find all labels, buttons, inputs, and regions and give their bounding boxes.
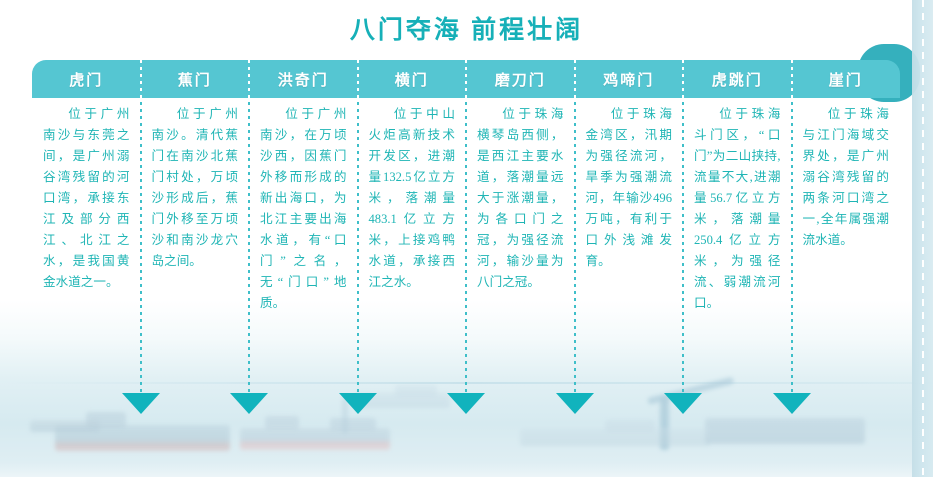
column-header-humen[interactable]: 虎门: [32, 60, 141, 98]
column-header-yamen[interactable]: 崖门: [792, 60, 901, 98]
column-divider: [248, 60, 250, 408]
column-text: 位于珠海横琴岛西侧，是西江主要水道，落潮量远大于涨潮量，为各口门之冠，为强径流河…: [466, 98, 575, 293]
column-text: 位于广州南沙与东莞之间，是广州溺谷湾残留的河口湾，承接东江及部分西江、北江之水，…: [32, 98, 141, 293]
ship-silhouette: [395, 385, 437, 397]
header-divider: [465, 60, 467, 98]
column-text: 位于珠海斗门区，“口门”为二山挟持,流量不大,进潮量56.7亿立方米，落潮量25…: [683, 98, 792, 314]
column-modaomen: 位于珠海横琴岛西侧，是西江主要水道，落潮量远大于涨潮量，为各口门之冠，为强径流河…: [466, 98, 575, 373]
ship-silhouette: [605, 420, 655, 432]
column-divider: [465, 60, 467, 408]
column-jitimen: 位于珠海金湾区，汛期为强径流河，旱季为强潮流河，年输沙496万吨，有利于口外浅滩…: [575, 98, 684, 373]
column-hongqimen: 位于广州南沙，在万顷沙西，因蕉门外移而形成的新出海口，为北江主要出海水道，有“口…: [249, 98, 358, 373]
down-arrow-icon: [339, 393, 377, 414]
ship-silhouette: [265, 416, 299, 430]
column-header-hengmen[interactable]: 横门: [358, 60, 467, 98]
column-yamen: 位于珠海与江门海域交界处，是广州溺谷湾残留的两条河口湾之一,全年属强潮流水道。: [792, 98, 901, 373]
column-divider: [140, 60, 142, 408]
column-header-modaomen[interactable]: 磨刀门: [466, 60, 575, 98]
header-divider: [574, 60, 576, 98]
header-divider: [682, 60, 684, 98]
column-text: 位于中山火炬高新技术开发区，进潮量132.5亿立方米，落潮量483.1亿立方米，…: [358, 98, 467, 293]
column-humen: 位于广州南沙与东莞之间，是广州溺谷湾残留的河口湾，承接东江及部分西江、北江之水，…: [32, 98, 141, 373]
down-arrow-icon: [122, 393, 160, 414]
column-text: 位于珠海与江门海域交界处，是广州溺谷湾残留的两条河口湾之一,全年属强潮流水道。: [792, 98, 901, 251]
page-edge-dashed-line: [922, 0, 924, 477]
column-divider: [574, 60, 576, 408]
header-divider: [357, 60, 359, 98]
page-title: 八门夺海 前程壮阔: [0, 10, 933, 46]
down-arrow-icon: [230, 393, 268, 414]
down-arrow-icon: [664, 393, 702, 414]
column-header-jiaomen[interactable]: 蕉门: [141, 60, 250, 98]
header-divider: [791, 60, 793, 98]
column-header-hongqimen[interactable]: 洪奇门: [249, 60, 358, 98]
ship-silhouette: [330, 418, 376, 431]
ship-silhouette: [705, 418, 865, 444]
column-header-jitimen[interactable]: 鸡啼门: [575, 60, 684, 98]
down-arrow-icon: [556, 393, 594, 414]
column-divider: [791, 60, 793, 408]
column-divider: [682, 60, 684, 408]
column-text: 位于广州南沙，在万顷沙西，因蕉门外移而形成的新出海口，为北江主要出海水道，有“口…: [249, 98, 358, 314]
header-divider: [248, 60, 250, 98]
column-text: 位于珠海金湾区，汛期为强径流河，旱季为强潮流河，年输沙496万吨，有利于口外浅滩…: [575, 98, 684, 272]
header-divider: [140, 60, 142, 98]
ship-silhouette: [240, 428, 390, 450]
column-header-hutiaomen[interactable]: 虎跳门: [683, 60, 792, 98]
column-hutiaomen: 位于珠海斗门区，“口门”为二山挟持,流量不大,进潮量56.7亿立方米，落潮量25…: [683, 98, 792, 373]
infographic-root: 八门夺海 前程壮阔 虎门 蕉门 洪奇门 横门 磨刀门 鸡啼门 虎跳门 崖门 位于…: [0, 0, 933, 477]
column-hengmen: 位于中山火炬高新技术开发区，进潮量132.5亿立方米，落潮量483.1亿立方米，…: [358, 98, 467, 373]
column-divider: [357, 60, 359, 408]
column-text: 位于广州南沙。清代蕉门在南沙北蕉门村处，万顷沙形成后，蕉门外移至万顷沙和南沙龙穴…: [141, 98, 250, 272]
ship-silhouette: [86, 412, 126, 428]
column-jiaomen: 位于广州南沙。清代蕉门在南沙北蕉门村处，万顷沙形成后，蕉门外移至万顷沙和南沙龙穴…: [141, 98, 250, 373]
down-arrow-icon: [447, 393, 485, 414]
down-arrow-icon: [773, 393, 811, 414]
